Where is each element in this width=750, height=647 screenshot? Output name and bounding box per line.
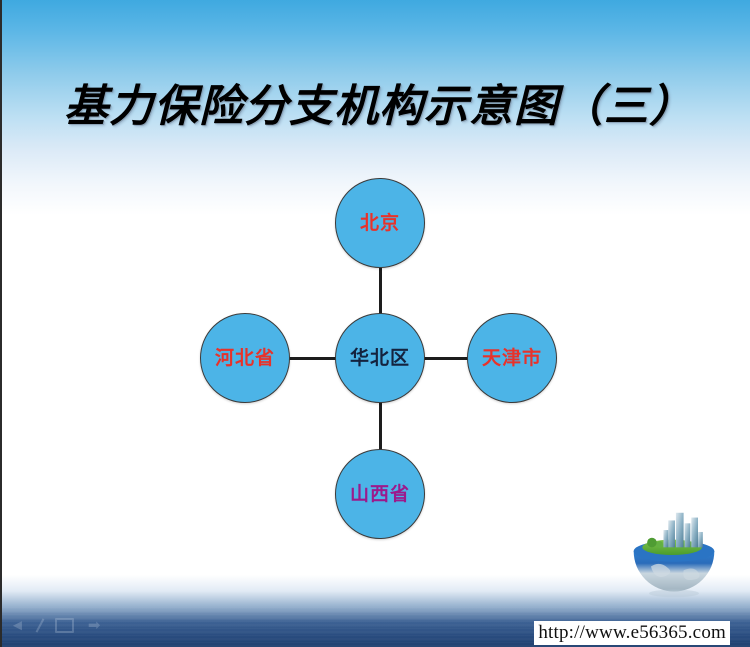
presentation-slide: ◄ ➡ 基力保险分支机构示意图（三） 北京 河北省 华北区 天津市 山西省 [0,0,750,647]
diagram-node-huabei-center[interactable]: 华北区 [335,313,425,403]
diagram-node-beijing[interactable]: 北京 [335,178,425,268]
diagram-node-tianjin[interactable]: 天津市 [467,313,557,403]
node-label-shanxi: 山西省 [350,485,410,504]
node-label-tianjin: 天津市 [482,349,542,368]
globe-with-city-logo [626,507,722,603]
node-label-beijing: 北京 [360,214,400,233]
diagram-node-hebei[interactable]: 河北省 [200,313,290,403]
watermark-url: http://www.e56365.com [534,621,730,645]
diagram-node-shanxi[interactable]: 山西省 [335,449,425,539]
node-label-huabei: 华北区 [350,349,410,368]
node-label-hebei: 河北省 [215,349,275,368]
